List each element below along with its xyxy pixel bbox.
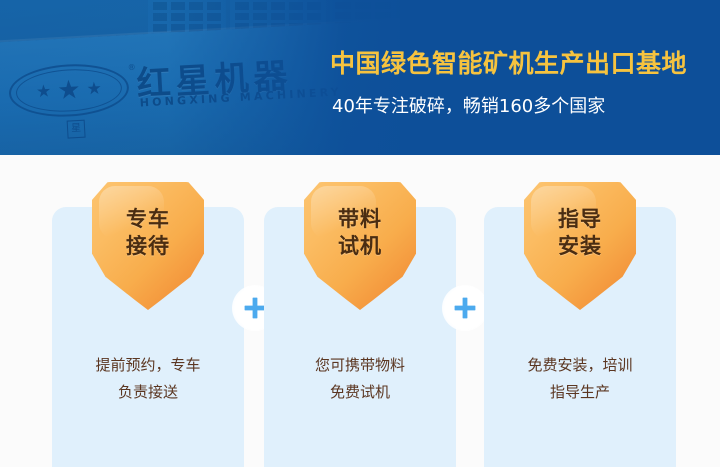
- card-description: 您可携带物料 免费试机: [264, 352, 456, 405]
- card-description: 提前预约，专车 负责接送: [52, 352, 244, 405]
- header-banner: ★ ★ ★ ® 星 红星机器 HONGXING MACHINERY 中国绿色智能…: [0, 0, 720, 155]
- shield-badge-icon: 指导 安装: [524, 182, 636, 310]
- badge-label-line1: 指导: [558, 206, 602, 233]
- card-description-line2: 负责接送: [62, 379, 234, 406]
- banner-subtitle: 40年专注破碎，畅销160多个国家: [332, 92, 605, 118]
- plus-connector-icon: [442, 285, 488, 331]
- promo-banner-page: ★ ★ ★ ® 星 红星机器 HONGXING MACHINERY 中国绿色智能…: [0, 0, 720, 467]
- card-description-line2: 免费试机: [274, 379, 446, 406]
- service-card[interactable]: 指导 安装 免费安装，培训 指导生产: [484, 207, 676, 467]
- shield-badge-icon: 专车 接待: [92, 182, 204, 310]
- banner-text-block: 中国绿色智能矿机生产出口基地 40年专注破碎，畅销160多个国家: [330, 0, 720, 155]
- card-description-line2: 指导生产: [494, 379, 666, 406]
- card-description-line1: 您可携带物料: [274, 352, 446, 379]
- badge-label-line2: 安装: [558, 233, 602, 260]
- shield-badge-icon: 带料 试机: [304, 182, 416, 310]
- badge-label-line1: 带料: [338, 206, 382, 233]
- badge-label-line2: 试机: [338, 233, 382, 260]
- banner-title: 中国绿色智能矿机生产出口基地: [330, 44, 687, 80]
- service-card[interactable]: 专车 接待 提前预约，专车 负责接送: [52, 207, 244, 467]
- service-card[interactable]: 带料 试机 您可携带物料 免费试机: [264, 207, 456, 467]
- card-description-line1: 免费安装，培训: [494, 352, 666, 379]
- card-description-line1: 提前预约，专车: [62, 352, 234, 379]
- card-description: 免费安装，培训 指导生产: [484, 352, 676, 405]
- badge-label-line2: 接待: [126, 233, 170, 260]
- badge-label-line1: 专车: [126, 206, 170, 233]
- service-cards-section: 专车 接待 提前预约，专车 负责接送 带料 试机: [0, 155, 720, 467]
